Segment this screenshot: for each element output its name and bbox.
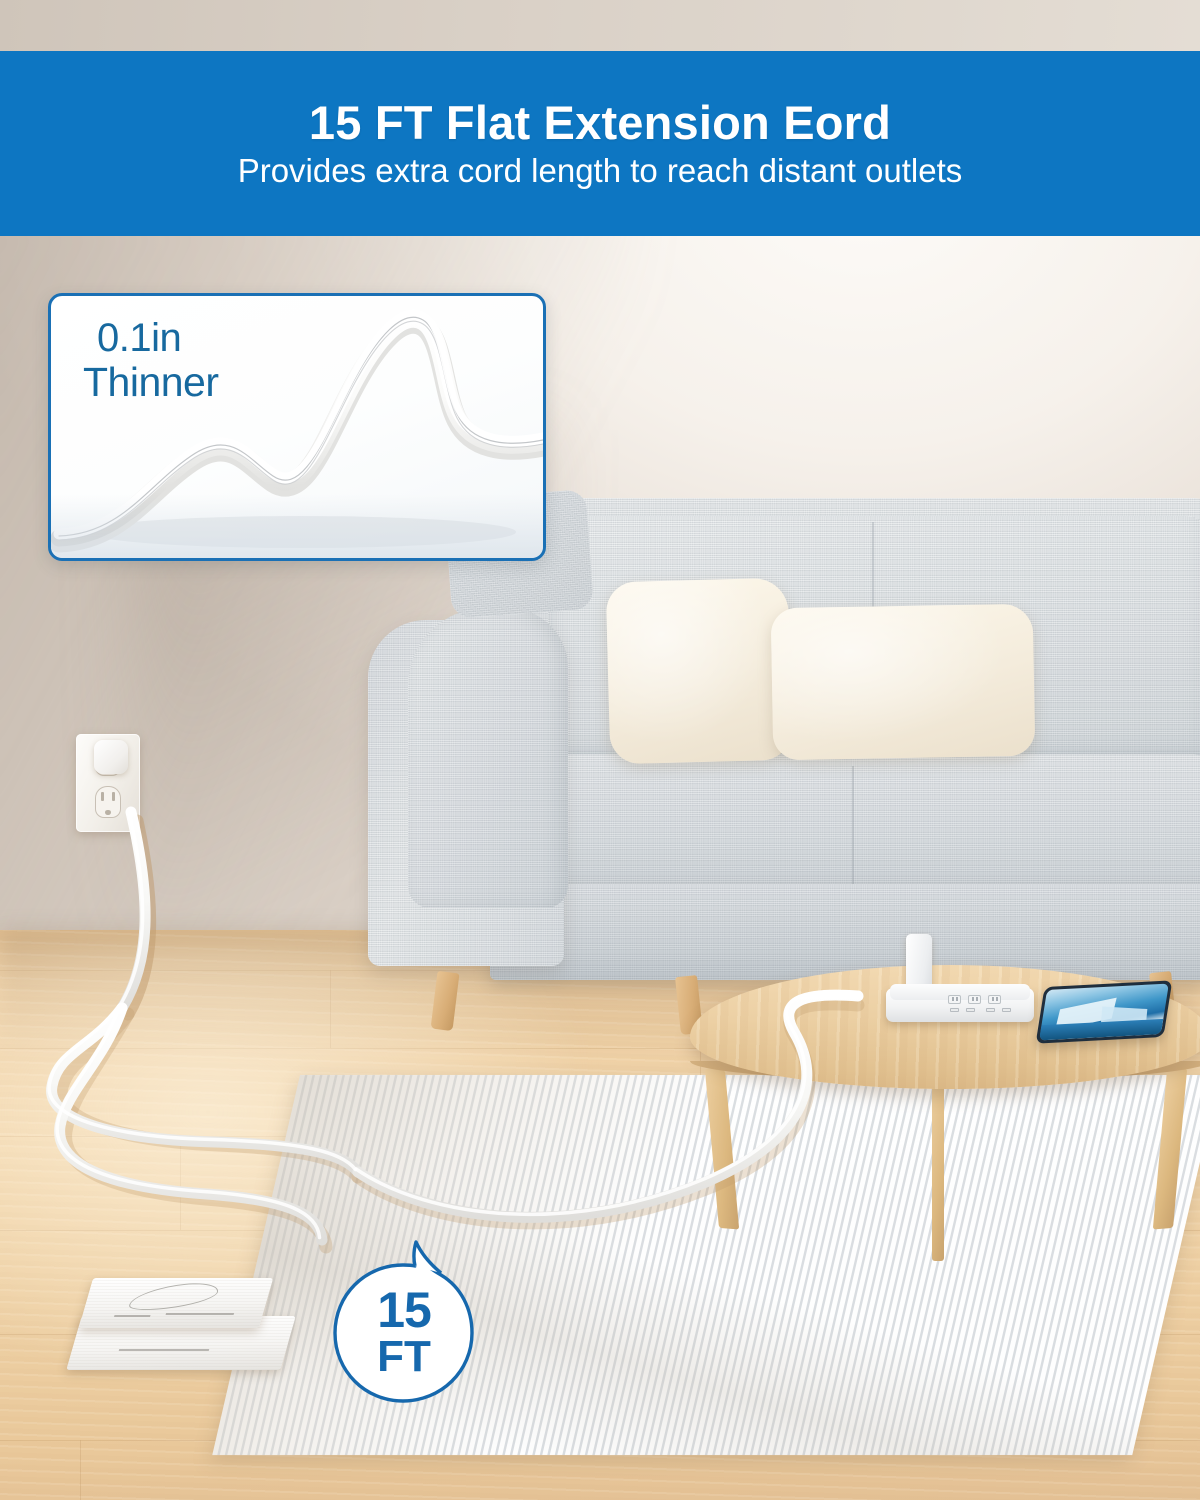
callout-surface-glow [51, 494, 543, 558]
length-badge-unit: FT [377, 1335, 431, 1378]
power-strip-socket-3 [988, 995, 1001, 1004]
table-leg-middle [932, 1075, 944, 1261]
length-badge-number: 15 [377, 1286, 431, 1335]
wall-outlet [76, 734, 140, 832]
power-strip-usb-2 [966, 1008, 975, 1012]
table-leg-left [705, 1068, 739, 1229]
power-strip-socket-1 [948, 995, 961, 1004]
promo-banner: 15 FT Flat Extension Eord Provides extra… [0, 51, 1200, 236]
power-strip-socket-2 [968, 995, 981, 1004]
top-wall-strip [0, 0, 1200, 51]
table-leg-right [1153, 1068, 1187, 1229]
length-badge-text: 15 FT [331, 1267, 477, 1397]
book-top [79, 1278, 273, 1328]
power-strip-plug [906, 934, 932, 990]
sofa-arm-bolster [408, 608, 568, 908]
banner-title: 15 FT Flat Extension Eord [309, 98, 891, 147]
outlet-socket-bottom [95, 786, 121, 818]
sofa-seat-seam [852, 766, 854, 894]
power-strip-usb-4 [1002, 1008, 1011, 1012]
length-badge: 15 FT [331, 1237, 477, 1409]
callout-label-group: 0.1in Thinner [83, 318, 219, 403]
power-strip-usb-1 [950, 1008, 959, 1012]
book-stack [68, 1272, 290, 1384]
callout-measurement: 0.1in [83, 318, 219, 358]
power-strip-face [890, 984, 1030, 1000]
smartphone-screen [1039, 984, 1169, 1041]
callout-descriptor: Thinner [83, 362, 219, 403]
thinner-callout-card: 0.1in Thinner [48, 293, 546, 561]
power-strip-usb-3 [986, 1008, 995, 1012]
throw-pillow-square [606, 578, 793, 765]
cord-plug-in-outlet [94, 740, 128, 774]
throw-pillow-lumbar [771, 604, 1036, 761]
smartphone [1036, 980, 1173, 1043]
sofa-leg-left [431, 971, 460, 1031]
power-strip [886, 978, 1034, 1024]
banner-subtitle: Provides extra cord length to reach dist… [238, 153, 963, 189]
sofa-seat-cushion [502, 754, 1200, 902]
